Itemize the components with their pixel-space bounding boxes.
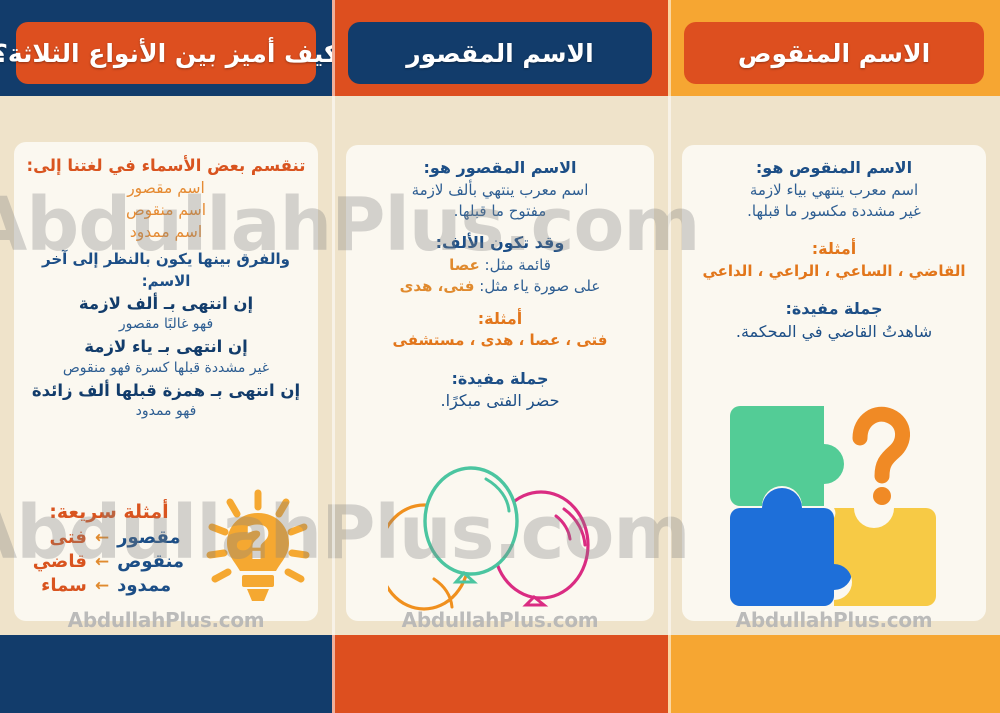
middle-sentence-label: جملة مفيدة: <box>356 368 644 391</box>
middle-alif-line-2-example: فتى، هدى <box>400 277 475 295</box>
panel-middle-card: الاسم المقصور هو: اسم معرب ينتهي بألف لا… <box>346 145 654 621</box>
panel-left-card: الاسم المنقوص هو: اسم معرب ينتهي بياء لا… <box>682 145 986 621</box>
spacer <box>692 222 976 238</box>
balloons-icon <box>388 461 612 615</box>
middle-examples-label: أمثلة: <box>356 308 644 331</box>
spacer <box>356 298 644 308</box>
quick-word-1: قاضي <box>31 551 87 572</box>
right-rule-2-sub: فهو ممدود <box>24 402 308 422</box>
right-quick-text: أمثلة سريعة: مقصور ← فتى منقوص ← قاضي مم… <box>22 501 202 599</box>
panel-right-bottom-bar <box>0 635 332 713</box>
left-arrow-icon-1: ← <box>95 552 109 572</box>
svg-text:?: ? <box>245 516 272 570</box>
middle-alif-label: وقد تكون الألف: <box>356 232 644 255</box>
right-rule-0-sub: فهو غالبًا مقصور <box>24 315 308 335</box>
panel-left-bottom-bar <box>668 635 1000 713</box>
right-type-1: اسم منقوص <box>24 199 308 221</box>
panel-middle-title: الاسم المقصور <box>406 39 594 68</box>
jigsaw-puzzle-question-icon <box>718 396 950 615</box>
panel-how-to-distinguish: كيف أميز بين الأنواع الثلاثة؟ تنقسم بعض … <box>0 0 332 713</box>
panel-left-title: الاسم المنقوص <box>738 39 930 68</box>
panel-ism-maqsur: الاسم المقصور الاسم المقصور هو: اسم معرب… <box>332 0 668 713</box>
left-def-line-1: غير مشددة مكسور ما قبلها. <box>692 201 976 222</box>
middle-def-label: الاسم المقصور هو: <box>356 157 644 180</box>
panel-right-card: تنقسم بعض الأسماء في لغتنا إلى: اسم مقصو… <box>14 142 318 621</box>
quick-example-row: ممدود ← سماء <box>22 575 196 596</box>
middle-alif-line-1: قائمة مثل: عصا <box>356 255 644 276</box>
panel-middle-header: الاسم المقصور <box>348 22 652 84</box>
left-arrow-icon-0: ← <box>95 528 109 548</box>
right-rule-0-bold: إن انتهى بـ ألف لازمة <box>24 292 308 315</box>
quick-type-0: مقصور <box>117 527 187 548</box>
left-illustration <box>682 396 986 615</box>
quick-example-row: مقصور ← فتى <box>22 527 196 548</box>
panel-left-header: الاسم المنقوص <box>684 22 984 84</box>
middle-alif-line-2-prefix: على صورة ياء مثل: <box>475 277 601 295</box>
middle-alif-line-1-prefix: قائمة مثل: <box>480 256 551 274</box>
lightbulb-question-icon: ? <box>206 489 310 611</box>
panel-left-curve-divider <box>668 96 1000 142</box>
panel-right-title: كيف أميز بين الأنواع الثلاثة؟ <box>0 39 332 68</box>
quick-type-2: ممدود <box>117 575 187 596</box>
right-quick-title: أمثلة سريعة: <box>22 501 196 523</box>
right-type-0: اسم مقصور <box>24 177 308 199</box>
quick-type-1: منقوص <box>117 551 187 572</box>
middle-alif-line-2: على صورة ياء مثل: فتى، هدى <box>356 276 644 297</box>
middle-def-line-0: اسم معرب ينتهي بألف لازمة <box>356 180 644 201</box>
infographic-root: كيف أميز بين الأنواع الثلاثة؟ تنقسم بعض … <box>0 0 1000 713</box>
quick-example-row: منقوص ← قاضي <box>22 551 196 572</box>
right-rule-intro: والفرق بينها يكون بالنظر إلى آخر الاسم: <box>24 249 308 292</box>
quick-word-0: فتى <box>31 527 87 548</box>
right-quick-examples-block: ? أمثلة سريعة: مقصور ← فتى منقوص ← قاضي <box>22 489 310 611</box>
right-type-2: اسم ممدود <box>24 221 308 243</box>
middle-def-line-1: مفتوح ما قبلها. <box>356 201 644 222</box>
right-rule-1-bold: إن انتهى بـ ياء لازمة <box>24 335 308 358</box>
spacer <box>356 222 644 232</box>
spacer <box>356 352 644 368</box>
middle-alif-line-1-example: عصا <box>449 256 480 274</box>
panel-right-header: كيف أميز بين الأنواع الثلاثة؟ <box>16 22 316 84</box>
panel-ism-manqus: الاسم المنقوص الاسم المنقوص هو: اسم معرب… <box>668 0 1000 713</box>
left-arrow-icon-2: ← <box>95 576 109 596</box>
left-sentence-label: جملة مفيدة: <box>692 298 976 321</box>
panel-middle-bottom-bar <box>332 635 668 713</box>
left-examples-line: القاضي ، الساعي ، الراعي ، الداعي <box>692 261 976 282</box>
middle-illustration <box>346 461 654 615</box>
left-def-line-0: اسم معرب ينتهي بياء لازمة <box>692 180 976 201</box>
quick-word-2: سماء <box>31 575 87 596</box>
right-rule-1-sub: غير مشددة قبلها كسرة فهو منقوص <box>24 359 308 379</box>
panel-middle-curve-divider <box>332 96 668 142</box>
right-rule-2-bold: إن انتهى بـ همزة قبلها ألف زائدة <box>24 379 308 402</box>
right-intro: تنقسم بعض الأسماء في لغتنا إلى: <box>24 154 308 177</box>
left-sentence-text: شاهدتُ القاضي في المحكمة. <box>692 321 976 344</box>
spacer <box>692 282 976 298</box>
left-def-label: الاسم المنقوص هو: <box>692 157 976 180</box>
left-examples-label: أمثلة: <box>692 238 976 261</box>
middle-examples-line: فتى ، عصا ، هدى ، مستشفى <box>356 330 644 351</box>
panel-right-curve-divider <box>0 96 332 142</box>
middle-sentence-text: حضر الفتى مبكرًا. <box>356 390 644 413</box>
